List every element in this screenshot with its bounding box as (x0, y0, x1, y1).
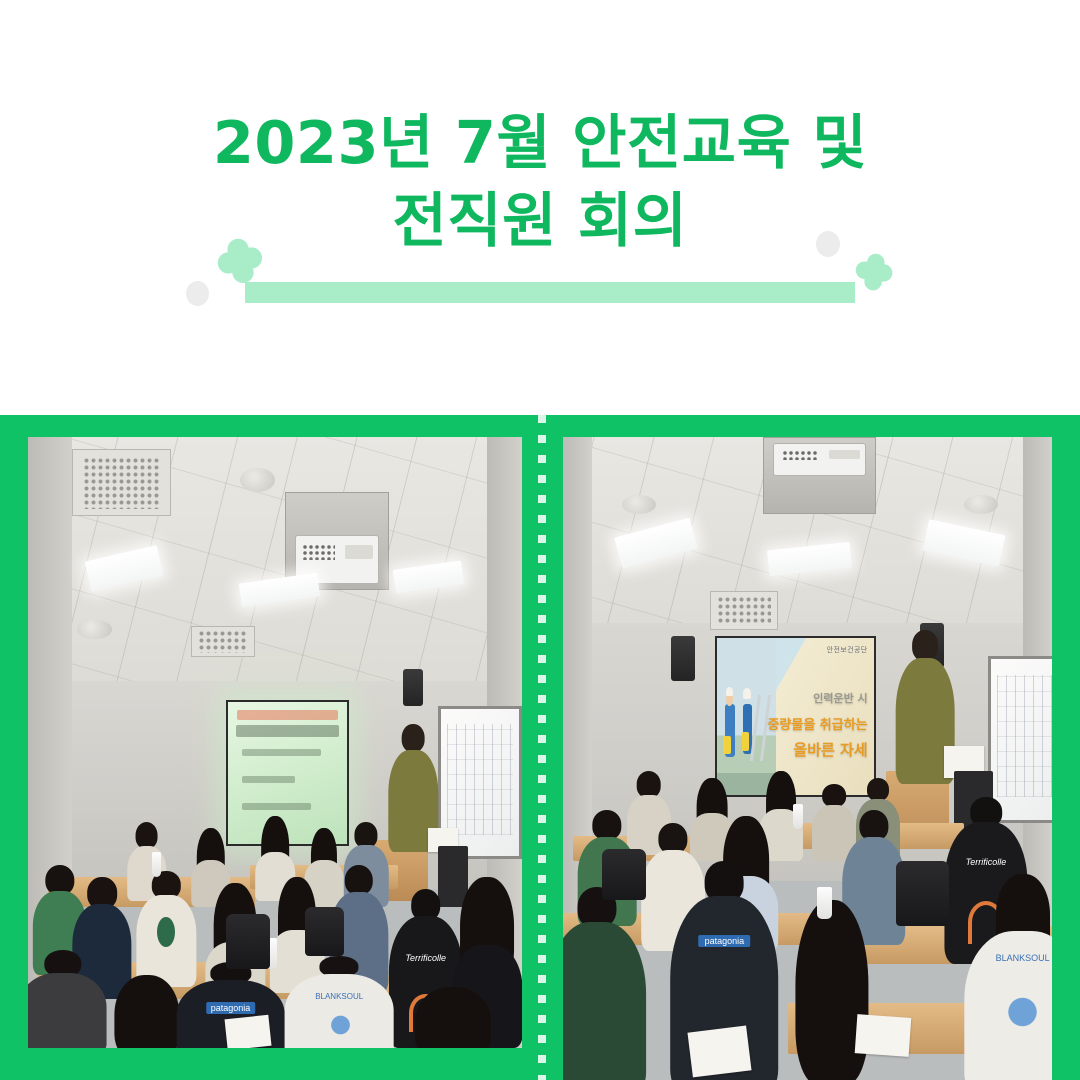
apparel-label-terrificolle: Terrificolle (405, 953, 446, 963)
ceiling-dome-2 (77, 620, 112, 638)
decorative-dot-left (186, 281, 209, 306)
ceiling-dome-icon (622, 495, 656, 514)
underline-bar (245, 282, 855, 303)
flower-graphic (320, 1008, 361, 1041)
clover-icon-right (853, 251, 895, 293)
attendee-front (563, 887, 646, 1080)
photo-left: Terrificolle patagonia BLANKSOUL (28, 437, 522, 1048)
attendee-front (28, 950, 107, 1048)
attendee-front (394, 987, 513, 1048)
page-title: 2023년 7월 안전교육 및 전직원 회의 (0, 104, 1080, 260)
ceiling-projector-icon (773, 443, 866, 475)
flower-graphic (999, 979, 1046, 1045)
ceiling-vent-icon (72, 449, 171, 516)
title-line-1: 2023년 7월 안전교육 및 (0, 104, 1080, 182)
apparel-label-blanksoul: BLANKSOUL (315, 992, 363, 1001)
wall-speaker-left (671, 636, 695, 681)
slide-line-2: 올바른 자세 (793, 739, 867, 760)
ceiling-vent-icon (710, 591, 778, 630)
title-line-2: 전직원 회의 (0, 182, 1080, 260)
apparel-label-patagonia: patagonia (699, 935, 751, 947)
attendee-front-blanksoul: BLANKSOUL (285, 956, 394, 1048)
decorative-dot-right (816, 231, 840, 257)
wall-speaker-icon (403, 669, 423, 706)
clover-icon-left (213, 234, 266, 287)
apparel-label-patagonia: patagonia (206, 1002, 256, 1014)
photo-divider (538, 415, 546, 1080)
ceiling-dome-icon (240, 468, 275, 492)
apparel-label-terrificolle: Terrificolle (966, 857, 1007, 867)
ceiling-vent-2 (191, 626, 255, 657)
slide-logo: 안전보건공단 (827, 645, 868, 655)
apparel-label-blanksoul: BLANKSOUL (996, 953, 1050, 963)
header-section: 2023년 7월 안전교육 및 전직원 회의 (0, 0, 1080, 415)
attendee-front-blanksoul: BLANKSOUL (964, 874, 1052, 1080)
slide-subline: 인력운반 시 (813, 690, 867, 706)
photo-right: 안전보건공단 인력운반 시 중량물을 취급하는 올바른 자세 (563, 437, 1052, 1080)
slide-line-1: 중량물을 취급하는 (767, 714, 867, 733)
